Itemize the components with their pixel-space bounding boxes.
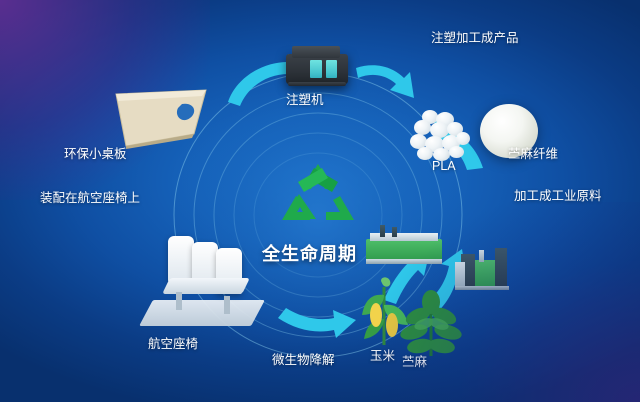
label-aircraft-seat: 航空座椅 [148,338,198,352]
green-factory-icon [366,225,442,267]
ramie-plant-icon [400,290,462,356]
lifecycle-diagram: 注塑机 注塑加工成产品 PLA 苎麻纤维 加工成工业原料 [0,0,640,402]
label-injection-molding-machine: 注塑机 [286,94,324,108]
label-pla: PLA [432,160,456,174]
label-corn: 玉米 [370,350,395,364]
label-industrial-raw-material: 加工成工业原料 [514,190,602,204]
pellets-icon [410,110,472,162]
label-install-on-seat: 装配在航空座椅上 [40,192,140,206]
label-ramie: 苎麻 [402,356,427,370]
factory-icon [455,238,509,290]
page-title: 全生命周期 [262,240,357,266]
label-microbial-degradation: 微生物降解 [272,354,335,368]
label-molded-product: 注塑加工成产品 [431,32,519,46]
aircraft-seat-icon [146,234,258,330]
label-eco-tray-table: 环保小桌板 [64,148,127,162]
label-ramie-fiber: 苎麻纤维 [508,148,558,162]
tray-table-icon [98,88,210,150]
injection-molding-machine-icon [286,44,348,86]
